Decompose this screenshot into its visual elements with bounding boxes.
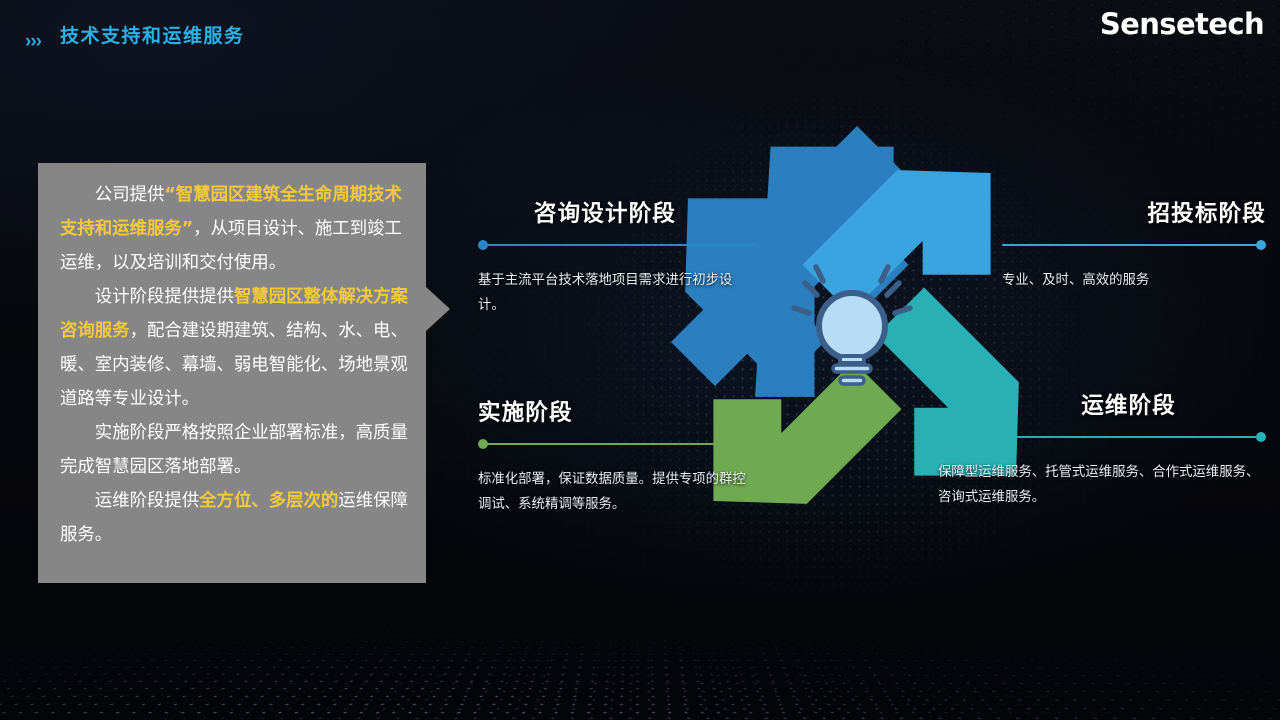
- panel-body-text: 公司提供: [95, 185, 165, 205]
- stage-rule-operations: [938, 432, 1266, 442]
- stage-title-bidding: 招投标阶段: [1002, 203, 1266, 226]
- stage-block-implementation[interactable]: 实施阶段 标准化部署，保证数据质量。提供专项的群控调试、系统精调等服务。: [478, 402, 756, 517]
- stage-rule-bidding: [1002, 240, 1266, 250]
- page-title: 技术支持和运维服务: [60, 27, 245, 46]
- chevron-triple-icon: ›››: [25, 32, 41, 51]
- panel-paragraph-0: 公司提供“智慧园区建筑全生命周期技术支持和运维服务”，从项目设计、施工到竣工运维…: [60, 178, 418, 280]
- stage-block-operations[interactable]: 运维阶段 保障型运维服务、托管式运维服务、合作式运维服务、咨询式运维服务。: [938, 395, 1266, 510]
- stage-title-consulting: 咨询设计阶段: [478, 203, 756, 226]
- stage-rule-bar: [938, 436, 1266, 438]
- stage-title-operations: 运维阶段: [938, 395, 1266, 418]
- stage-rule-bar: [478, 443, 756, 445]
- stage-description-operations: 保障型运维服务、托管式运维服务、合作式运维服务、咨询式运维服务。: [938, 460, 1266, 510]
- panel-highlight-text: 全方位、多层次的: [199, 491, 338, 511]
- stage-description-implementation: 标准化部署，保证数据质量。提供专项的群控调试、系统精调等服务。: [478, 467, 756, 517]
- panel-paragraph-2: 实施阶段严格按照企业部署标准，高质量完成智慧园区落地部署。: [60, 416, 418, 484]
- stage-block-consulting[interactable]: 咨询设计阶段 基于主流平台技术落地项目需求进行初步设计。: [478, 203, 756, 318]
- stage-description-consulting: 基于主流平台技术落地项目需求进行初步设计。: [478, 268, 756, 318]
- stage-description-bidding: 专业、及时、高效的服务: [1002, 268, 1266, 293]
- stage-rule-implementation: [478, 439, 756, 449]
- panel-body-text: 设计阶段提供提供: [95, 287, 234, 307]
- slide-canvas: ››› 技术支持和运维服务 Sensetech 公司提供“智慧园区建筑全生命周期…: [0, 0, 1280, 720]
- panel-body-text: 实施阶段严格按照企业部署标准，高质量完成智慧园区落地部署。: [60, 423, 408, 477]
- panel-paragraph-1: 设计阶段提供提供智慧园区整体解决方案咨询服务，配合建设期建筑、结构、水、电、暖、…: [60, 280, 418, 416]
- stage-rule-dot: [1256, 432, 1266, 442]
- stage-rule-dot: [478, 240, 488, 250]
- brand-logo: Sensetech: [1100, 10, 1264, 39]
- stage-title-implementation: 实施阶段: [478, 402, 756, 425]
- panel-pointer-triangle: [426, 287, 450, 331]
- panel-paragraph-3: 运维阶段提供全方位、多层次的运维保障服务。: [60, 484, 418, 552]
- stage-rule-dot: [1256, 240, 1266, 250]
- stage-block-bidding[interactable]: 招投标阶段 专业、及时、高效的服务: [1002, 203, 1266, 293]
- panel-paragraphs: 公司提供“智慧园区建筑全生命周期技术支持和运维服务”，从项目设计、施工到竣工运维…: [60, 178, 418, 552]
- stage-rule-bar: [1002, 244, 1266, 246]
- panel-body-text: 运维阶段提供: [95, 491, 199, 511]
- stage-rule-dot: [478, 439, 488, 449]
- slide-header: ››› 技术支持和运维服务 Sensetech: [0, 0, 1280, 62]
- stage-rule-consulting: [478, 240, 756, 250]
- background-wave-mesh: [0, 598, 1280, 720]
- stage-rule-bar: [478, 244, 756, 246]
